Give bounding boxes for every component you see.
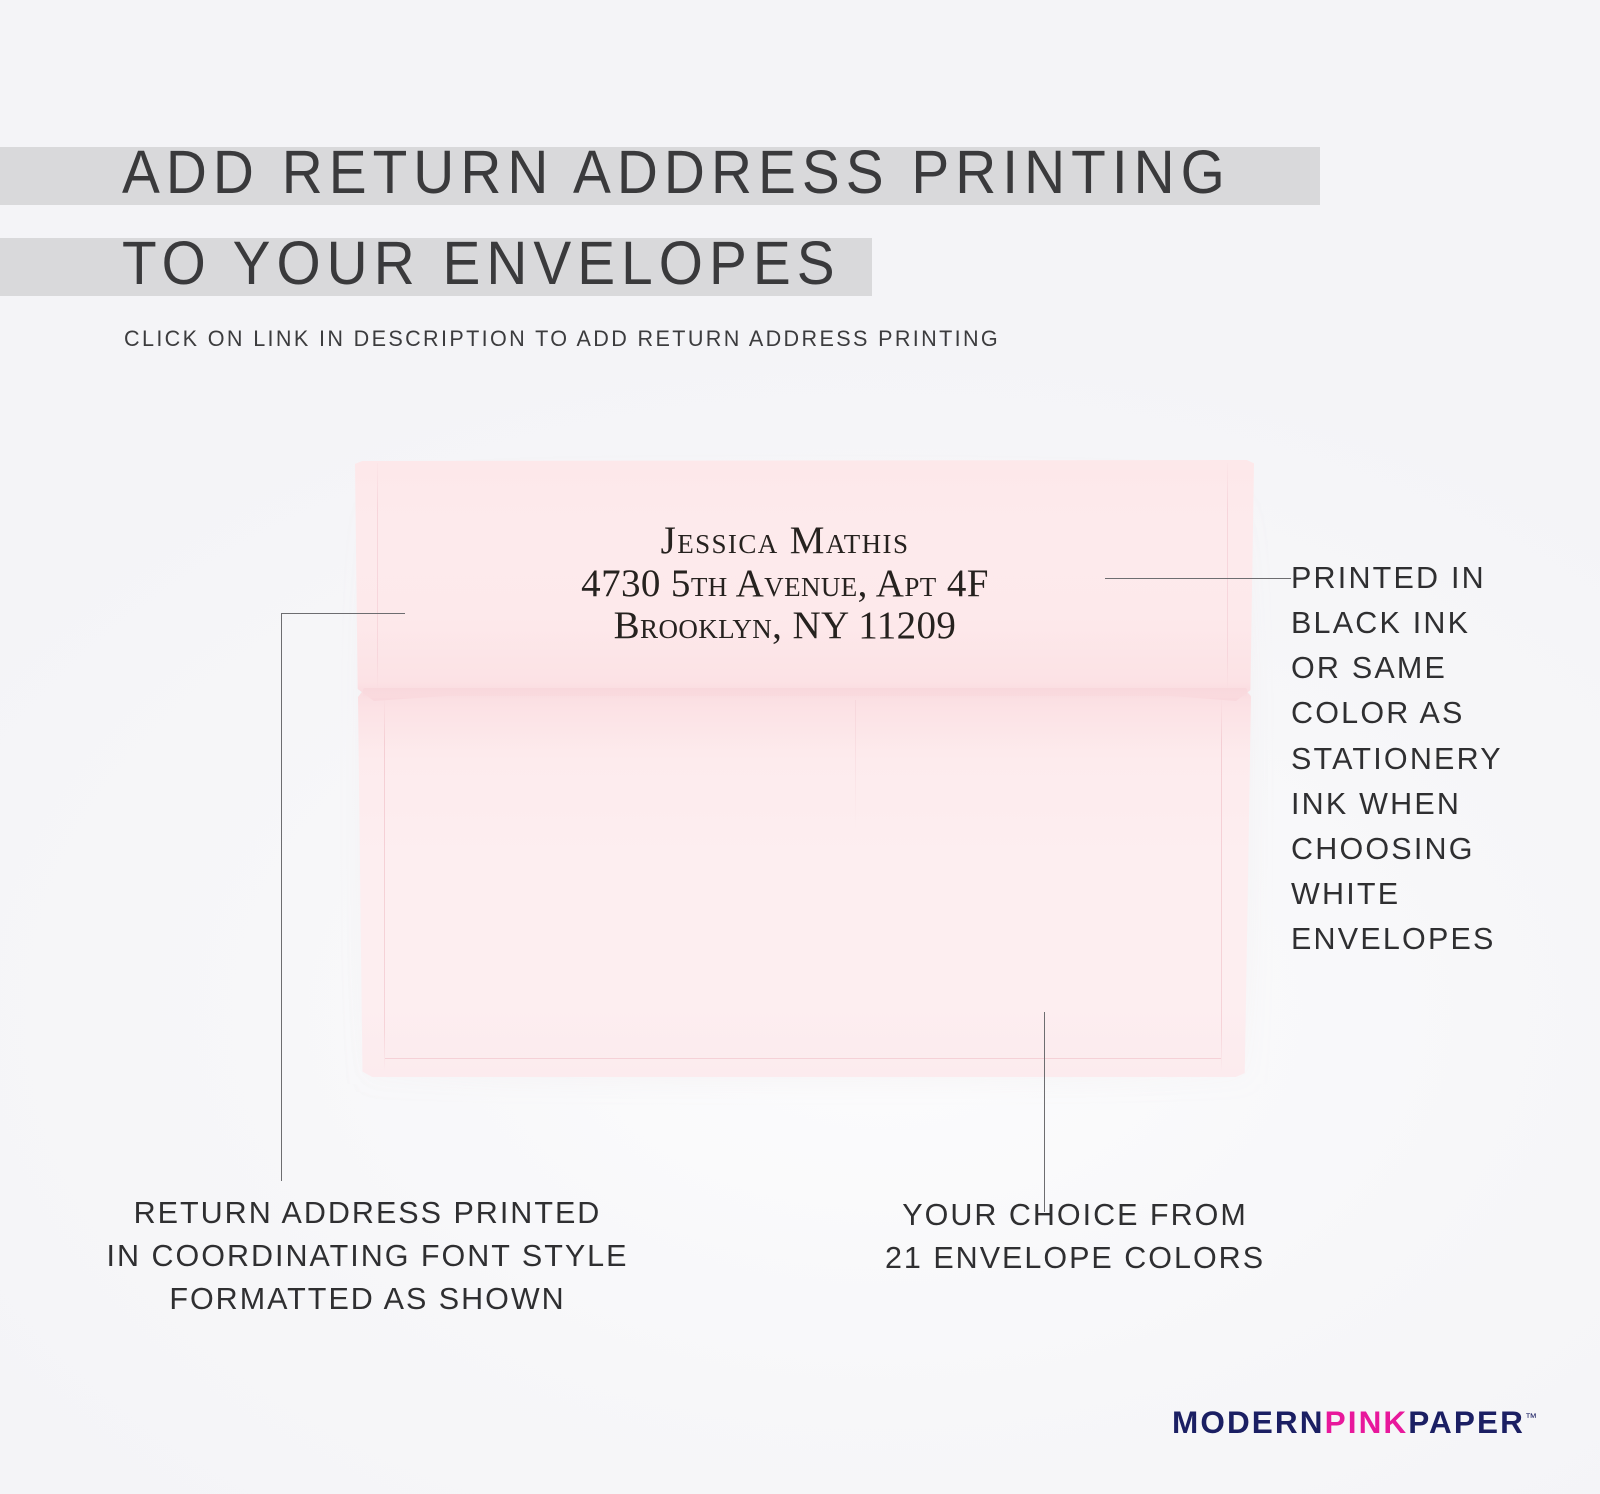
leader-line-left-horizontal	[281, 613, 405, 614]
leader-line-left-vertical	[281, 613, 282, 1181]
envelope-image: Jessica Mathis 4730 5th Avenue, Apt 4F B…	[355, 460, 1255, 1077]
envelope-body-crease-bottom	[385, 1058, 1221, 1059]
logo-word-modern: MODERN	[1172, 1404, 1325, 1440]
page-subtitle: CLICK ON LINK IN DESCRIPTION TO ADD RETU…	[124, 326, 1000, 352]
leader-line-middle-vertical	[1044, 1012, 1045, 1212]
callout-printed-ink-color: PRINTED IN BLACK INK OR SAME COLOR AS ST…	[1291, 556, 1591, 962]
page-title-line-2: TO YOUR ENVELOPES	[122, 228, 841, 298]
callout-right-line-2: BLACK INK	[1291, 601, 1591, 646]
callout-right-line-4: COLOR AS	[1291, 691, 1591, 736]
envelope-body-crease-right	[1221, 696, 1222, 1072]
callout-right-line-1: PRINTED IN	[1291, 556, 1591, 601]
leader-line-right	[1105, 578, 1291, 579]
callout-bottom-left-line-1: RETURN ADDRESS PRINTED	[95, 1192, 640, 1235]
envelope-body-seam	[855, 700, 856, 830]
logo-word-pink: PINK	[1325, 1404, 1409, 1440]
callout-bottom-left-line-2: IN COORDINATING FONT STYLE	[95, 1235, 640, 1278]
callout-bottom-mid-line-1: YOUR CHOICE FROM	[875, 1194, 1275, 1237]
logo-word-paper: PAPER	[1408, 1404, 1525, 1440]
return-address-street: 4730 5th Avenue, Apt 4F	[355, 563, 1215, 606]
page-title-line-1: ADD RETURN ADDRESS PRINTING	[122, 137, 1231, 207]
return-address-name: Jessica Mathis	[355, 520, 1215, 563]
brand-logo: MODERNPINKPAPER™	[1172, 1404, 1537, 1441]
envelope-flap-edge	[363, 688, 1247, 698]
envelope-body	[358, 690, 1251, 1077]
callout-envelope-colors: YOUR CHOICE FROM 21 ENVELOPE COLORS	[875, 1194, 1275, 1280]
callout-bottom-left-line-3: FORMATTED AS SHOWN	[95, 1278, 640, 1321]
return-address-city-state-zip: Brooklyn, NY 11209	[355, 605, 1215, 648]
printed-return-address: Jessica Mathis 4730 5th Avenue, Apt 4F B…	[355, 520, 1215, 648]
trademark-symbol: ™	[1525, 1411, 1537, 1425]
callout-right-line-3: OR SAME	[1291, 646, 1591, 691]
page-canvas: ADD RETURN ADDRESS PRINTING TO YOUR ENVE…	[0, 0, 1600, 1494]
envelope-flap-crease-right	[1227, 463, 1228, 691]
callout-right-line-5: STATIONERY	[1291, 737, 1591, 782]
envelope-body-crease-left	[384, 696, 385, 1072]
callout-right-line-6: INK WHEN	[1291, 782, 1591, 827]
callout-bottom-mid-line-2: 21 ENVELOPE COLORS	[875, 1237, 1275, 1280]
callout-right-line-9: ENVELOPES	[1291, 917, 1591, 962]
callout-right-line-8: WHITE	[1291, 872, 1591, 917]
callout-return-address-font: RETURN ADDRESS PRINTED IN COORDINATING F…	[95, 1192, 640, 1321]
callout-right-line-7: CHOOSING	[1291, 827, 1591, 872]
